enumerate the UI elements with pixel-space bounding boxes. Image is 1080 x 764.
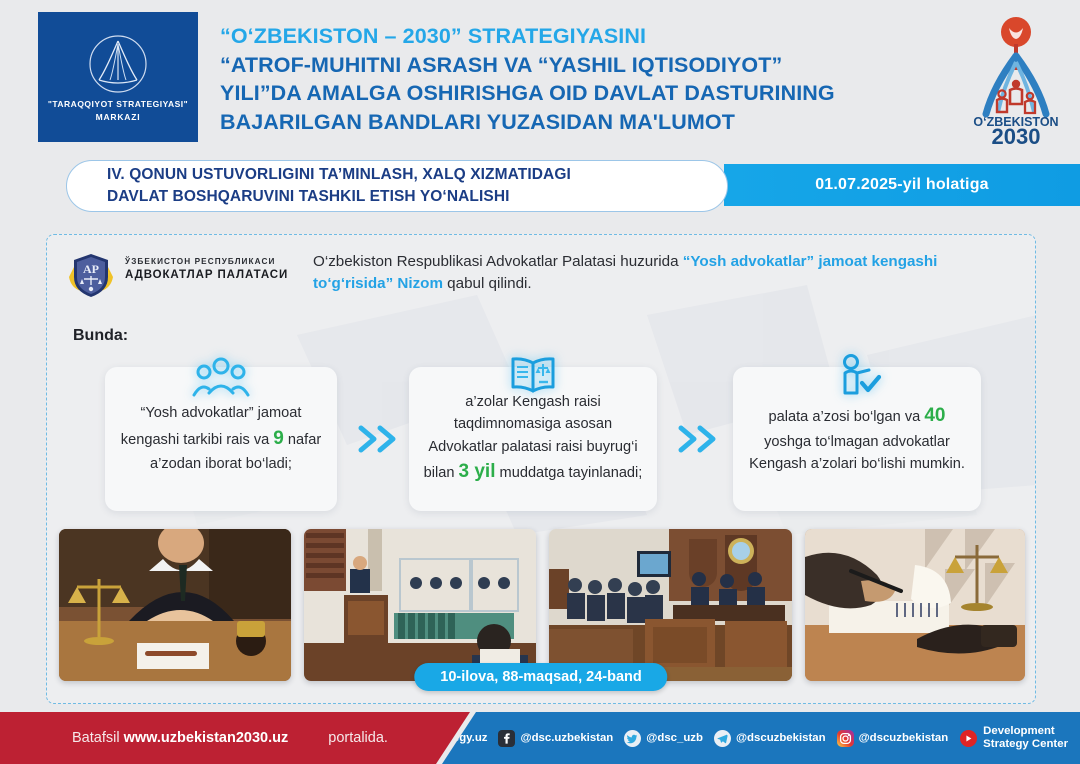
- people-group-icon: [192, 353, 250, 399]
- card3-text-before: palata a’zosi bo‘lgan va: [769, 409, 925, 425]
- info-card-1: “Yosh advokatlar” jamoat kengashi tarkib…: [105, 367, 337, 511]
- section-title-pill: IV. QONUN USTUVORLIGINI TA’MINLASH, XALQ…: [66, 160, 728, 212]
- social-label-twitter: @dsc_uzb: [646, 732, 703, 744]
- footer: Batafsil www.uzbekistan2030.uz portalida…: [0, 712, 1080, 764]
- footer-site-url[interactable]: www.uzbekistan2030.uz: [124, 730, 289, 746]
- cards-row: “Yosh advokatlar” jamoat kengashi tarkib…: [61, 347, 1023, 517]
- double-chevron-right-icon-1: [355, 423, 403, 460]
- social-label-facebook: @dsc.uzbekistan: [520, 732, 613, 744]
- content-panel: АР ЎЗБЕКИСТОН РЕСПУБЛИКАСИ АДВОКАТЛАР ПА…: [46, 234, 1036, 704]
- social-link-instagram[interactable]: @dscuzbekistan: [837, 730, 949, 747]
- youtube-name-line1: Development: [983, 725, 1055, 737]
- status-date-badge: 01.07.2025-yil holatiga: [724, 164, 1080, 206]
- title-line-4: BAJARILGAN BANDLARI YUZASIDAN MA'LUMOT: [220, 108, 960, 137]
- header: "TARAQQIYOT STRATEGIYASI" MARKAZI “O‘ZBE…: [0, 0, 1080, 152]
- taraqqiyot-strategiyasi-logo: "TARAQQIYOT STRATEGIYASI" MARKAZI: [38, 12, 198, 142]
- photo-courtroom-hearing: [304, 529, 536, 681]
- card2-number: 3 yil: [459, 461, 496, 482]
- footer-detail-after: portalida.: [324, 730, 388, 746]
- youtube-name-line2: Strategy Center: [983, 738, 1068, 750]
- person-check-icon: [831, 353, 883, 399]
- uzbekiston-2030-logo: O‘ZBEKISTON 2030: [964, 10, 1068, 146]
- section-title-line2: DAVLAT BOSHQARUVINI TASHKIL ETISH YO‘NAL…: [107, 186, 727, 208]
- photo-hand-signing-documents: [805, 529, 1025, 681]
- youtube-icon: [959, 730, 978, 747]
- card2-text-after: muddatga tayinlanadi;: [496, 465, 643, 481]
- ilova-badge: 10-ilova, 88-maqsad, 24-band: [414, 663, 667, 691]
- double-chevron-right-icon-2: [675, 423, 723, 460]
- card3-number: 40: [924, 405, 945, 426]
- logo-caption-line2: MARKAZI: [96, 112, 141, 123]
- twitter-icon: [624, 730, 641, 747]
- bunda-label: Bunda:: [73, 327, 128, 345]
- info-card-2-text: a’zolar Kengash raisi taqdimnomasiga aso…: [419, 391, 647, 486]
- title-line-3: YILI”DA AMALGA OSHIRISHGA OID DAVLAT DAS…: [220, 79, 960, 108]
- social-label-instagram: @dscuzbekistan: [859, 732, 949, 744]
- info-card-3: palata a’zosi bo‘lgan va 40 yoshga to‘lm…: [733, 367, 981, 511]
- footer-portal-text: Batafsil www.uzbekistan2030.uz portalida…: [36, 730, 388, 746]
- card3-text-after: yoshga to‘lmagan advokatlar Kengash a’zo…: [749, 434, 965, 472]
- logo-caption-line1: "TARAQQIYOT STRATEGIYASI": [48, 99, 188, 110]
- section-bar: 01.07.2025-yil holatiga IV. QONUN USTUVO…: [0, 160, 1080, 212]
- photo-lawyer-with-scales: [59, 529, 291, 681]
- svg-text:АР: АР: [83, 262, 99, 276]
- photo-court-panel-session: [549, 529, 792, 681]
- instagram-icon: [837, 730, 854, 747]
- footer-detail-before: Batafsil: [72, 730, 124, 746]
- lead-text-after: qabul qilindi.: [443, 275, 532, 292]
- monument-emblem-icon: [85, 31, 151, 97]
- info-card-1-text: “Yosh advokatlar” jamoat kengashi tarkib…: [115, 402, 327, 475]
- social-link-telegram[interactable]: @dscuzbekistan: [714, 730, 826, 747]
- youtube-channel-name: Development Strategy Center: [983, 725, 1068, 751]
- lead-text-before: O‘zbekiston Respublikasi Advokatlar Pala…: [313, 253, 683, 270]
- social-link-youtube[interactable]: Development Strategy Center: [959, 725, 1068, 751]
- card1-number: 9: [273, 428, 284, 449]
- telegram-icon: [714, 730, 731, 747]
- footer-portal-note: Batafsil www.uzbekistan2030.uz portalida…: [0, 712, 470, 764]
- photo-strip: [59, 529, 1025, 685]
- svg-text:2030: 2030: [992, 124, 1041, 146]
- info-card-3-text: palata a’zosi bo‘lgan va 40 yoshga to‘lm…: [743, 402, 971, 475]
- open-book-scales-icon: [507, 353, 559, 399]
- org-name-line2: АДВОКАТЛАР ПАЛАТАСИ: [125, 269, 288, 281]
- section-title-line1: IV. QONUN USTUVORLIGINI TA’MINLASH, XALQ…: [107, 164, 727, 186]
- social-label-telegram: @dscuzbekistan: [736, 732, 826, 744]
- title-line-2: “ATROF-MUHITNI ASRASH VA “YASHIL IQTISOD…: [220, 51, 960, 80]
- facebook-icon: [498, 730, 515, 747]
- org-name-line1: ЎЗБЕКИСТОН РЕСПУБЛИКАСИ: [125, 257, 288, 266]
- page-title: “O‘ZBEKISTON – 2030” STRATEGIYASINI “ATR…: [220, 22, 960, 136]
- status-date-label: 01.07.2025-yil holatiga: [815, 176, 989, 194]
- advokatlar-palatasi-shield-icon: АР: [67, 251, 115, 299]
- footer-social-bar: www.strategy.uz @dsc.uzbekistan @dsc_uzb…: [442, 712, 1080, 764]
- social-link-facebook[interactable]: @dsc.uzbekistan: [498, 730, 613, 747]
- title-line-1: “O‘ZBEKISTON – 2030” STRATEGIYASINI: [220, 22, 960, 51]
- info-card-2: a’zolar Kengash raisi taqdimnomasiga aso…: [409, 367, 657, 511]
- org-name: ЎЗБЕКИСТОН РЕСПУБЛИКАСИ АДВОКАТЛАР ПАЛАТ…: [125, 257, 288, 281]
- social-link-twitter[interactable]: @dsc_uzb: [624, 730, 703, 747]
- lead-paragraph: O‘zbekiston Respublikasi Advokatlar Pala…: [313, 251, 1013, 294]
